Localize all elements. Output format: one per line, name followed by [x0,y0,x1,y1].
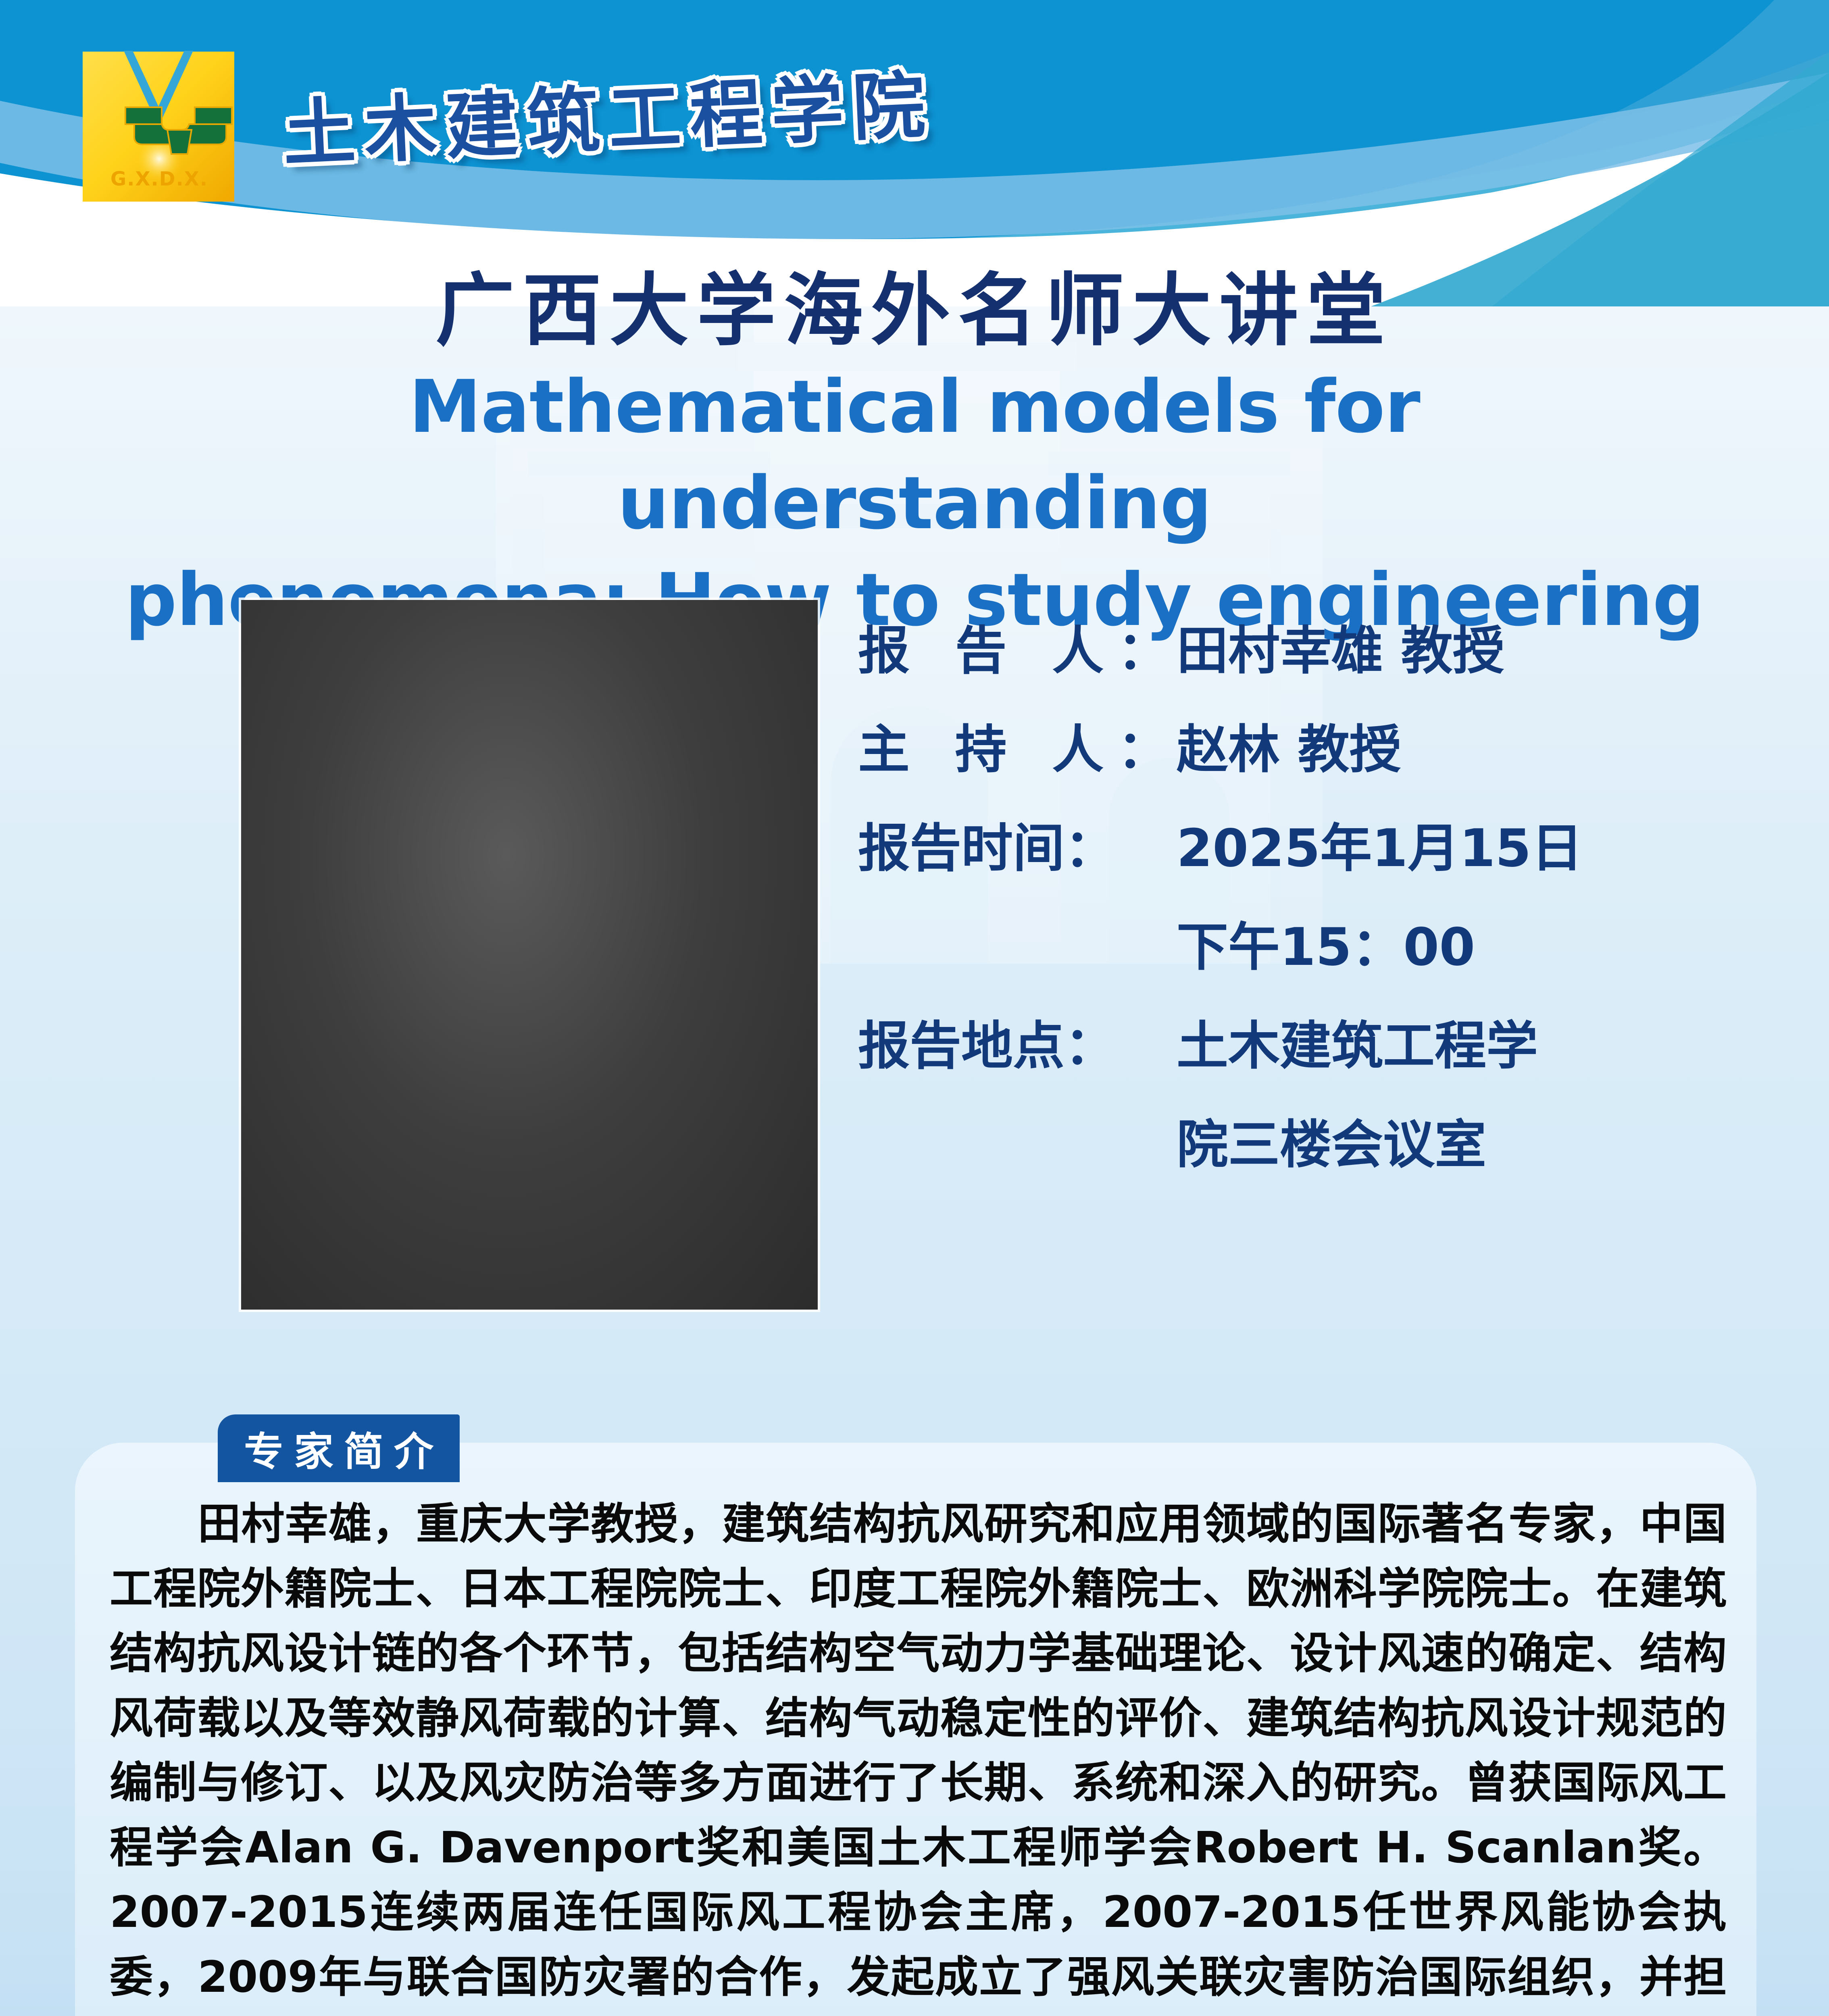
detail-row-venue: 报告地点： 土木建筑工程学 [858,1004,1689,1079]
detail-value-venue: 土木建筑工程学 [1177,1004,1689,1079]
detail-value-date: 2025年1月15日 [1177,806,1689,881]
detail-row-date: 报告时间： 2025年1月15日 [858,806,1689,881]
detail-label-date: 报告时间： [858,806,1177,881]
detail-label-host: 主 持 人： [858,708,1177,782]
expert-bio-tab: 专家简介 [218,1414,460,1482]
speaker-portrait-photo [241,600,818,1310]
expert-bio-text: 田村幸雄，重庆大学教授，建筑结构抗风研究和应用领域的国际著名专家，中国工程院外籍… [110,1492,1727,2016]
detail-label-speaker: 报 告 人： [858,609,1177,683]
lecture-details: 报 告 人： 田村幸雄 教授 主 持 人： 赵林 教授 报告时间： 2025年1… [858,609,1689,1202]
gxdx-logo: G.X.D.X. [74,44,243,209]
portrait-backdrop [241,600,818,1310]
expert-bio-tab-label: 专家简介 [233,1420,444,1477]
detail-value-host: 赵林 教授 [1177,708,1689,782]
detail-row-speaker: 报 告 人： 田村幸雄 教授 [858,609,1689,683]
detail-row-host: 主 持 人： 赵林 教授 [858,708,1689,782]
series-title-cn: 广西大学海外名师大讲堂 [0,247,1829,361]
detail-value-speaker: 田村幸雄 教授 [1177,609,1689,683]
detail-value-time: 下午15：00 [1177,905,1689,980]
gxdx-logo-svg: G.X.D.X. [74,44,243,209]
detail-label-venue: 报告地点： [858,1004,1177,1079]
lecture-title-en-line1: Mathematical models for understanding [113,359,1716,552]
lecture-poster: G.X.D.X. 土木建筑工程学院 广西大学海外名师大讲堂 Mathematic… [0,0,1829,2016]
detail-value-venue-cont: 院三楼会议室 [1177,1103,1689,1177]
detail-row-time: 下午15：00 [1177,905,1689,980]
detail-row-venue-cont: 院三楼会议室 [1177,1103,1689,1177]
